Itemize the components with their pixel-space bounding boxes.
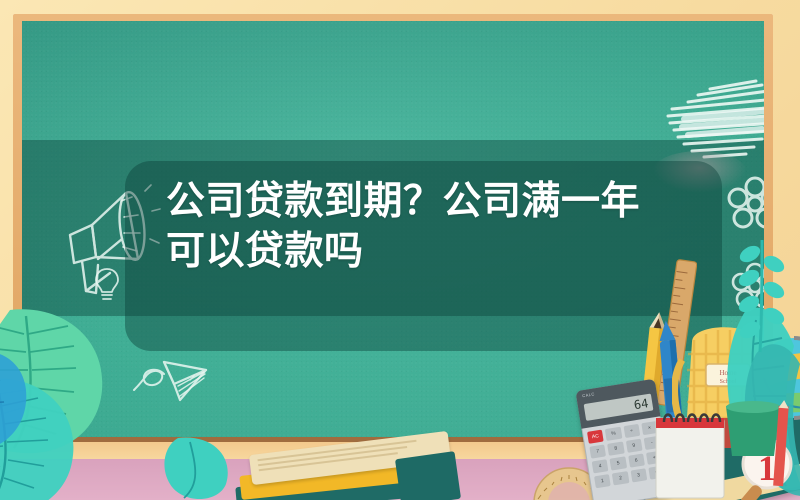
calculator-key[interactable]: 8 bbox=[607, 442, 624, 456]
calculator-key[interactable]: 7 bbox=[589, 444, 606, 458]
book-small-dark bbox=[395, 451, 461, 500]
leaf-branch-right bbox=[736, 236, 796, 356]
chalk-eraser-smudge-icon bbox=[658, 69, 764, 165]
calculator-key[interactable]: 2 bbox=[612, 471, 629, 485]
pencil-red bbox=[768, 400, 794, 495]
leaf-small-left bbox=[160, 432, 240, 500]
calculator-key[interactable]: 6 bbox=[628, 453, 645, 467]
calculator-key[interactable]: 1 bbox=[594, 474, 611, 488]
poster-root: 公司贷款到期？公司满一年可以贷款吗 bbox=[0, 0, 800, 500]
calculator-key[interactable]: % bbox=[605, 427, 622, 441]
calculator-key[interactable]: 4 bbox=[592, 459, 609, 473]
calculator-key[interactable]: 5 bbox=[610, 456, 627, 470]
calculator-key[interactable]: 3 bbox=[630, 468, 647, 482]
flower-doodle-upper-icon bbox=[724, 173, 764, 235]
calculator-key[interactable]: 9 bbox=[625, 439, 642, 453]
calculator-key[interactable]: AC bbox=[587, 430, 604, 444]
calculator-key[interactable]: ÷ bbox=[623, 424, 640, 438]
page-title: 公司贷款到期？公司满一年可以贷款吗 bbox=[166, 177, 666, 277]
